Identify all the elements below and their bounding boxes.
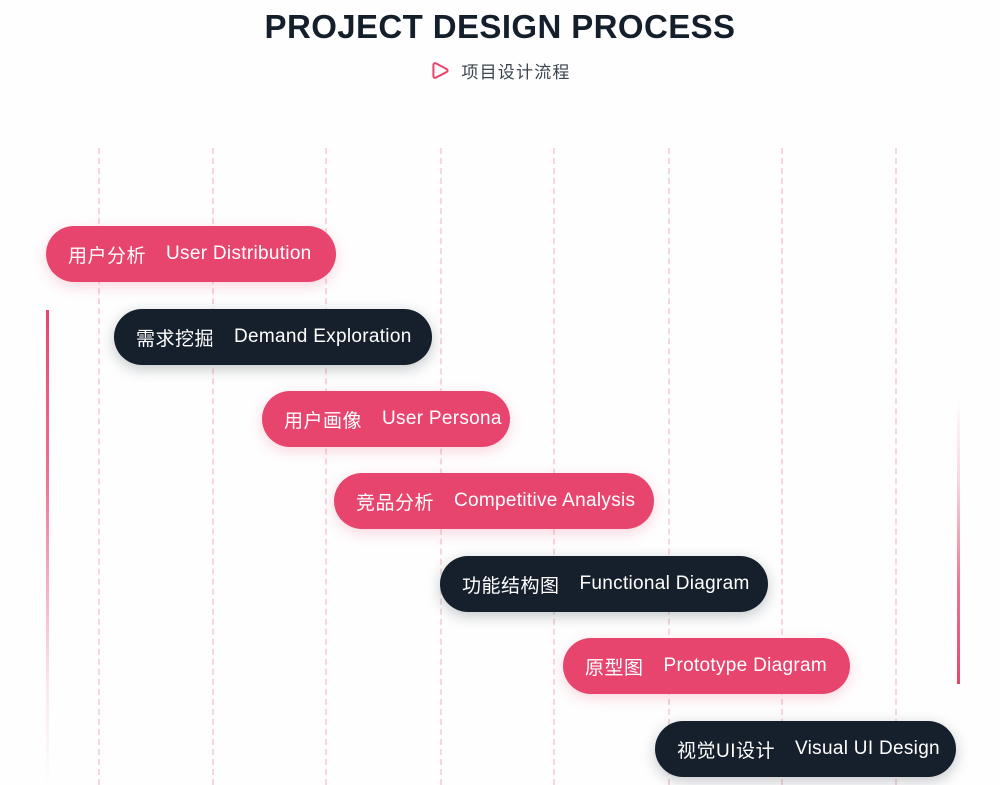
process-step-user-persona[interactable]: 用户画像 User Persona [262, 391, 510, 447]
step-label-cn: 竞品分析 [356, 488, 434, 515]
step-label-cn: 需求挖掘 [136, 324, 214, 351]
page-title: PROJECT DESIGN PROCESS [0, 0, 1000, 47]
process-step-user-distribution[interactable]: 用户分析 User Distribution [46, 226, 336, 282]
step-label-en: Competitive Analysis [454, 490, 635, 512]
process-steps-list: 用户分析 User Distribution 需求挖掘 Demand Explo… [0, 0, 1000, 785]
process-step-competitive-analysis[interactable]: 竞品分析 Competitive Analysis [334, 473, 654, 529]
step-label-en: Visual UI Design [795, 738, 940, 760]
step-label-en: Prototype Diagram [664, 655, 828, 677]
step-label-en: Functional Diagram [580, 573, 750, 595]
step-label-en: User Distribution [166, 243, 312, 265]
step-label-cn: 原型图 [585, 653, 644, 680]
play-triangle-icon [429, 59, 452, 82]
process-diagram-canvas: PROJECT DESIGN PROCESS 项目设计流程 用户分析 User … [0, 0, 1000, 785]
step-label-en: Demand Exploration [234, 326, 412, 348]
step-label-en: User Persona [382, 408, 502, 430]
page-subtitle: 项目设计流程 [461, 58, 570, 83]
header: PROJECT DESIGN PROCESS 项目设计流程 [0, 0, 1000, 83]
step-label-cn: 功能结构图 [462, 571, 560, 598]
process-step-functional-diagram[interactable]: 功能结构图 Functional Diagram [440, 556, 768, 612]
step-label-cn: 用户画像 [284, 406, 362, 433]
step-label-cn: 用户分析 [68, 241, 146, 268]
step-label-cn: 视觉UI设计 [677, 736, 775, 763]
process-step-demand-exploration[interactable]: 需求挖掘 Demand Exploration [114, 309, 432, 365]
process-step-prototype-diagram[interactable]: 原型图 Prototype Diagram [563, 638, 850, 694]
process-step-visual-ui-design[interactable]: 视觉UI设计 Visual UI Design [655, 721, 956, 777]
subtitle-row: 项目设计流程 [0, 58, 1000, 83]
